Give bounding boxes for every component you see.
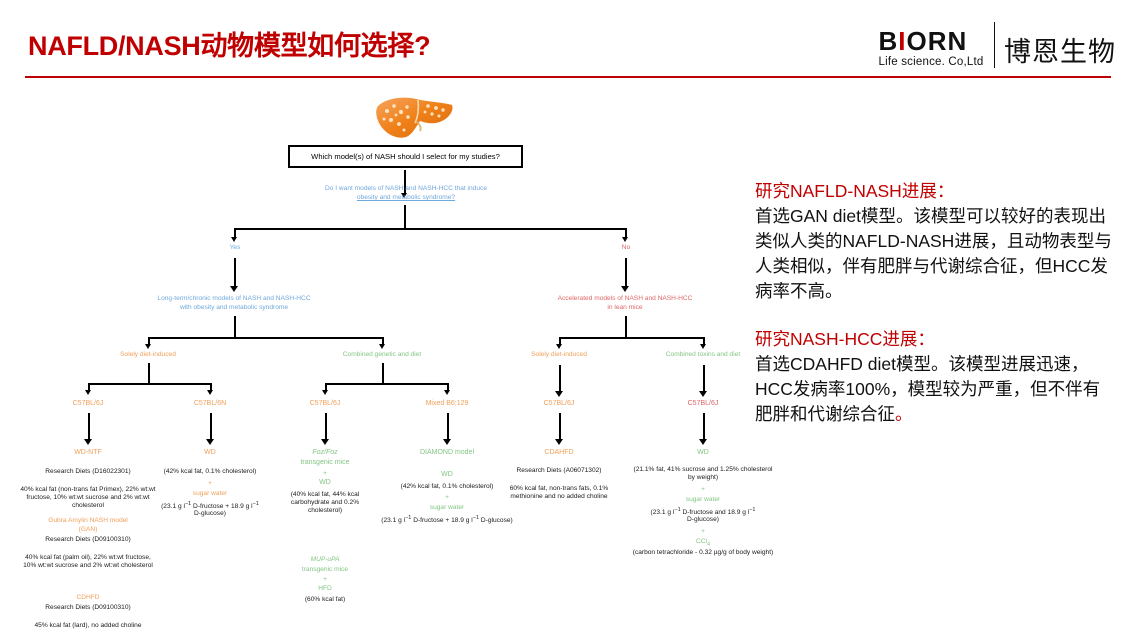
left-branch-line1: Long-term/chronic models of NASH and NAS… [134,295,334,303]
col4-connector [447,413,449,441]
category-solely-diet-induced-left: Solely diet-induced [88,351,208,359]
connector-left-split [148,337,384,339]
decision-question-line1: Do I want models of NASH and NASH-HCC th… [306,185,506,193]
col6-model2: sugar water [653,496,753,504]
connector-toxins-to-strain [703,365,705,393]
branch-label-no: No [605,244,647,252]
logo-wordmark: BIORN [878,28,983,54]
col4-model: DIAMOND model [392,449,502,458]
col4-model2: WD [397,471,497,480]
col6-arrowhead [699,439,707,445]
page-title: NAFLD/NASH动物模型如何选择? [28,24,430,63]
connector-decision-stem [404,205,406,229]
connector-right-stem [625,316,627,339]
left-branch-line2: with obesity and metabolic syndrome [134,304,334,312]
arrowhead-col2 [207,390,213,395]
col4-strain: Mixed B6;129 [397,400,497,409]
header-rule [25,76,1111,78]
commentary-block1-heading: 研究NAFLD-NASH进展： [755,178,1115,204]
col3-model2: WD [275,479,375,488]
col4-plus: + [397,494,497,502]
connector-no-to-accelerated [625,258,627,288]
col6-plus2: + [653,528,753,536]
arrowhead-no [622,237,628,242]
arrowhead-col3 [322,390,328,395]
category-solely-diet-induced-right: Solely diet-induced [499,351,619,359]
col3-model-line2: transgenic mice [275,459,375,468]
arrowhead-right-toxins [700,344,706,349]
col4-detail3: (23.1 g l−1 D-fructose + 18.9 g l−1 D-gl… [372,515,522,525]
arrowhead-col1 [85,390,91,395]
category-combined-toxins-and-diet: Combined toxins and diet [643,351,763,359]
col2-strain: C57BL/6N [160,400,260,409]
arrowhead-yes-to-longterm [230,286,238,292]
col1-model: WD-NTF [38,449,138,458]
col6-model3-sub: 4 [707,541,710,547]
col5-source: Research Diets (A06071302) [499,467,619,475]
right-branch-line2: in lean mice [535,304,715,312]
col3-model-line1: Foz/Foz [275,449,375,458]
col4-detail: (42% kcal fat, 0.1% cholesterol) [387,483,507,491]
connector-leftdiet-stem [148,363,150,385]
arrowhead-no-to-accelerated [621,286,629,292]
col4-detail3-a: (23.1 g l [381,517,405,524]
col2-detail2-sup2: −1 [253,501,259,507]
col5-strain: C57BL/6J [509,400,609,409]
col3-extra-model2: HFD [275,585,375,593]
col1-extra2-model: CDHFD [18,594,158,602]
col2-detail: (42% kcal fat, 0.1% cholesterol) [150,468,270,476]
col2-detail2-c: D-glucose) [160,510,260,518]
commentary-block2-body: 首选CDAHFD diet模型。该模型进展迅速，HCC发病率100%，模型较为严… [755,352,1115,427]
connector-yes-no-split [234,228,626,230]
logo-letter-i: I [898,26,906,56]
arrowhead-yes [231,237,237,242]
logo-tagline: Life science. Co,Ltd [878,57,983,69]
logo-letters-orn: ORN [907,26,968,56]
col6-detail2-c: D-glucose) [653,516,753,524]
commentary-block1-body: 首选GAN diet模型。该模型可以较好的表现出类似人类的NAFLD-NASH进… [755,204,1115,303]
col1-extra2-source: Research Diets (D09100310) [18,604,158,612]
col6-detail2-sup2: −1 [749,507,755,513]
col5-model: CDAHFD [509,449,609,458]
col4-arrowhead [443,439,451,445]
logo-divider [994,22,996,68]
col1-extra2-detail: 45% kcal fat (lard), no added choline [8,622,168,630]
col2-model2: sugar water [160,490,260,498]
col1-source: Research Diets (D16022301) [18,468,158,476]
arrowhead-col6 [699,391,707,397]
col6-model3-text: CCl [696,538,707,545]
connector-leftdiet-split [88,383,212,385]
col6-detail: (21.1% fat, 41% sucrose and 1.25% choles… [630,466,776,482]
brand-logo: BIORN Life science. Co,Ltd 博恩生物 [878,22,1116,68]
category-combined-genetic-and-diet: Combined genetic and diet [322,351,442,359]
right-branch-line1: Accelerated models of NASH and NASH-HCC [535,295,715,303]
col2-plus: + [160,480,260,488]
col1-arrowhead [84,439,92,445]
col3-extra-model-line2: transgenic mice [275,566,375,574]
commentary-block2-period: 。 [895,404,913,424]
arrowhead-left-diet [145,344,151,349]
col3-extra-model-line1: MUP-uPA [275,556,375,564]
col1-detail: 40% kcal fat (non-trans fat Primex), 22%… [18,486,158,511]
col2-model: WD [160,449,260,458]
arrowhead-col5 [555,391,563,397]
col3-detail: (40% kcal fat, 44% kcal carbohydrate and… [282,491,368,516]
col6-connector [703,413,705,441]
decision-question-line2: obesity and metabolic syndrome? [306,194,506,202]
page-header: NAFLD/NASH动物模型如何选择? BIORN Life science. … [0,0,1134,88]
connector-rightdiet-to-strain [559,365,561,393]
connector-left-stem [234,316,236,339]
col3-arrowhead [321,439,329,445]
commentary-block2-text: 首选CDAHFD diet模型。该模型进展迅速，HCC发病率100%，模型较为严… [755,354,1100,424]
root-question-box: Which model(s) of NASH should I select f… [288,145,523,168]
col1-strain: C57BL/6J [38,400,138,409]
col4-detail3-b: D-fructose + 18.9 g l [411,517,472,524]
col3-extra-plus: + [275,576,375,584]
commentary-panel: 研究NAFLD-NASH进展： 首选GAN diet模型。该模型可以较好的表现出… [755,178,1115,426]
col5-connector [559,413,561,441]
col6-strain: C57BL/6J [653,400,753,409]
nash-model-selection-flowchart: Which model(s) of NASH should I select f… [0,88,760,638]
commentary-block2-heading: 研究NASH-HCC进展： [755,326,1115,352]
connector-yes-to-longterm [234,258,236,288]
logo-latin-part: BIORN Life science. Co,Ltd [878,28,993,69]
col3-plus: + [275,470,375,478]
branch-label-yes: Yes [214,244,256,252]
commentary-gap [755,304,1115,326]
arrowhead-right-diet [556,344,562,349]
col5-detail: 60% kcal fat, non-trans fats, 0.1% methi… [504,485,614,501]
connector-right-split [559,337,704,339]
col6-detail3: (carbon tetrachloride - 0.32 µg/g of bod… [625,549,781,557]
col2-connector [210,413,212,441]
logo-letter-b: B [878,26,898,56]
col1-extra1-detail: 40% kcal fat (palm oil), 22% wt:wt fruct… [18,554,158,570]
connector-genetic-stem [382,363,384,385]
connector-genetic-split [325,383,449,385]
col6-plus: + [653,486,753,494]
col1-extra1-source: Research Diets (D09100310) [18,536,158,544]
col3-strain: C57BL/6J [275,400,375,409]
col2-arrowhead [206,439,214,445]
col1-extra1-model-line1: Gubra Amylin NASH model [18,517,158,525]
arrowhead-col4 [444,390,450,395]
col1-connector [88,413,90,441]
col1-extra1-model-line2: (GAN) [18,526,158,534]
col3-connector [325,413,327,441]
arrowhead-left-genetic [379,344,385,349]
col5-arrowhead [555,439,563,445]
col4-detail3-c: D-glucose) [479,517,513,524]
col4-model3: sugar water [397,504,497,512]
col6-model3: CCl4 [653,538,753,548]
logo-chinese-name: 博恩生物 [1004,39,1116,68]
fatty-liver-icon [372,93,458,141]
col3-extra-detail: (60% kcal fat) [275,596,375,604]
col6-model: WD [653,449,753,458]
